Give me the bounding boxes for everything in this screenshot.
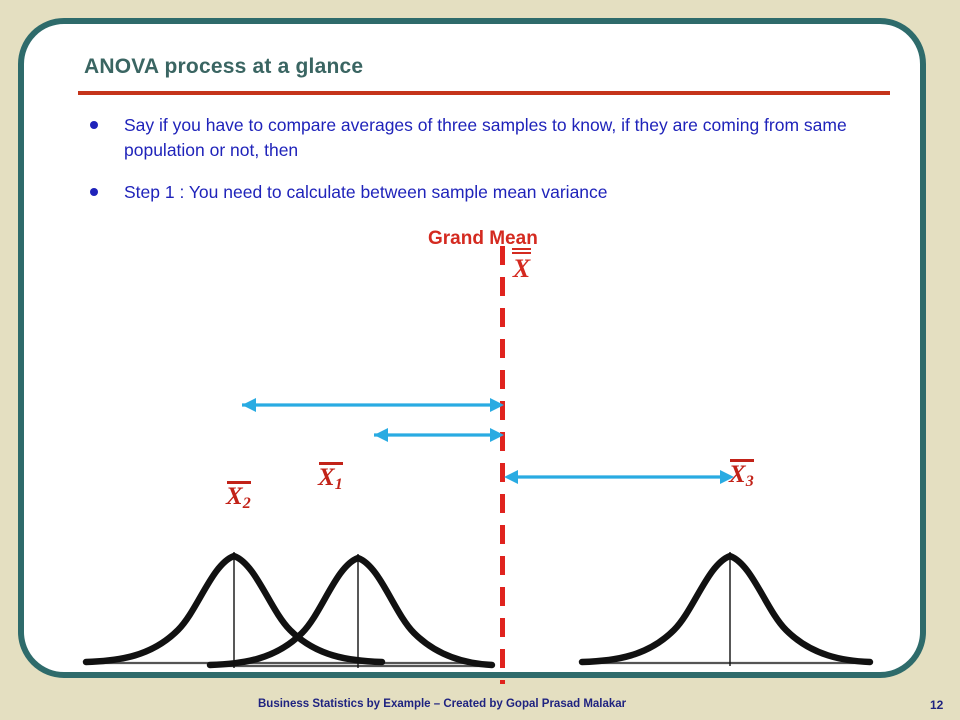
variance-arrow-1 [228,393,508,417]
grand-mean-symbol-glyph: X [512,256,531,282]
bullet-item-2: Step 1 : You need to calculate between s… [90,180,880,205]
bullet-item-2-text: Step 1 : You need to calculate between s… [124,180,880,205]
normal-distribution-curves [80,490,880,680]
variance-arrow-2 [360,423,508,447]
grand-mean-symbol: X [512,252,531,282]
slide-body: ANOVA process at a glance Say if you hav… [0,0,960,720]
bell-curve-3 [582,556,870,662]
variance-arrow-3 [498,465,738,489]
sample-mean-subscript: 3 [746,473,754,490]
bullet-dot-icon [90,188,98,196]
sample-mean-label-1: X1 [318,462,343,493]
footer-page-number: 12 [930,698,943,712]
grand-mean-label: Grand Mean [428,228,538,250]
footer-credit: Business Statistics by Example – Created… [258,698,626,710]
bullet-dot-icon [90,121,98,129]
sample-mean-symbol: X [318,464,335,491]
bullet-item-1: Say if you have to compare averages of t… [90,113,880,163]
bullet-item-1-text: Say if you have to compare averages of t… [124,113,880,163]
page-title: ANOVA process at a glance [84,55,363,79]
title-underline-rule [78,91,890,95]
